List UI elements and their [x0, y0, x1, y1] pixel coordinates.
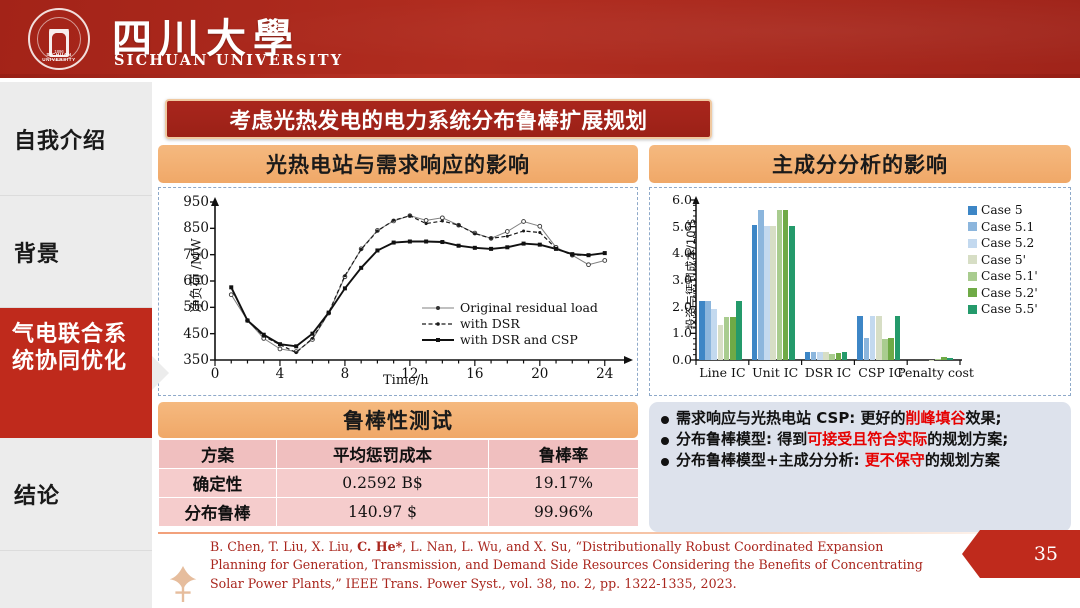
- pca-cost-legend-swatch: [968, 239, 977, 248]
- seal-text: SICHUAN UNIVERSITY: [30, 52, 88, 62]
- net-load-chart-svg: [159, 188, 635, 393]
- pca-cost-legend-swatch: [968, 206, 977, 215]
- slide-title: 考虑光热发电的电力系统分布鲁棒扩展规划: [165, 99, 712, 139]
- pca-cost-legend-swatch: [968, 255, 977, 264]
- table-header-cell: 鲁棒率: [489, 440, 639, 469]
- net-load-y-tick: 650: [163, 273, 209, 289]
- net-load-legend-label: Original residual load: [460, 300, 598, 315]
- pca-cost-bar: [817, 352, 823, 360]
- sidebar-item-self-intro[interactable]: 自我介绍: [0, 82, 152, 196]
- pca-cost-legend-swatch: [968, 272, 977, 281]
- table-cell: 19.17%: [489, 469, 639, 498]
- pca-cost-bar: [699, 301, 705, 360]
- net-load-x-tick: 20: [524, 366, 556, 382]
- net-load-legend-item: with DSR: [421, 316, 598, 331]
- net-load-legend-label: with DSR: [460, 316, 520, 331]
- bullet-text: 需求响应与光热电站 CSP: 更好的削峰填谷效果;: [676, 409, 1002, 429]
- net-load-legend-label: with DSR and CSP: [460, 332, 578, 347]
- sidebar-item-label: 背景: [14, 236, 60, 268]
- pca-cost-bar: [941, 357, 947, 360]
- citation-divider: [158, 532, 1071, 534]
- pca-cost-bar: [718, 325, 724, 360]
- pca-cost-legend-label: Case 5.2: [981, 236, 1034, 250]
- pca-cost-bar: [836, 353, 842, 360]
- sidebar-item-label-line1: 气电联合系: [12, 322, 152, 349]
- net-load-x-tick: 4: [264, 366, 296, 382]
- citation-line-1: B. Chen, T. Liu, X. Liu, C. He*, L. Nan,…: [210, 538, 1020, 556]
- pca-cost-bar: [805, 352, 811, 360]
- pca-cost-legend-label: Case 5.5': [981, 302, 1038, 316]
- bullet-text: 分布鲁棒模型: 得到可接受且符合实际的规划方案;: [676, 430, 1008, 450]
- table-row: 确定性 0.2592 B$ 19.17%: [159, 469, 639, 498]
- pca-cost-bar: [882, 339, 888, 360]
- pca-cost-bar: [777, 210, 783, 360]
- pca-cost-bar: [758, 210, 764, 360]
- net-load-x-tick: 16: [459, 366, 491, 382]
- table-header-cell: 平均惩罚成本: [277, 440, 489, 469]
- pca-cost-bar: [724, 317, 730, 360]
- net-load-chart: 净负荷 /MW Time/h 350450550650750850950 048…: [158, 187, 638, 396]
- table-header-row: 方案 平均惩罚成本 鲁棒率: [159, 440, 639, 469]
- table-cell: 0.2592 B$: [277, 469, 489, 498]
- slide-content: 考虑光热发电的电力系统分布鲁棒扩展规划 光热电站与需求响应的影响 净负荷 /MW…: [152, 82, 1080, 608]
- net-load-y-tick: 950: [163, 194, 209, 210]
- citation-line-2: Planning for Generation, Transmission, a…: [210, 556, 1020, 574]
- pca-cost-legend-item: Case 5: [968, 203, 1038, 217]
- net-load-legend-item: Original residual load: [421, 300, 598, 315]
- pca-cost-legend-label: Case 5.1': [981, 269, 1038, 283]
- pca-cost-legend-item: Case 5.2: [968, 236, 1038, 250]
- pca-cost-bar: [876, 316, 882, 360]
- table-cell: 分布鲁棒: [159, 498, 277, 527]
- sidebar-item-label-line2: 统协同优化: [12, 349, 152, 376]
- pca-cost-legend-item: Case 5': [968, 253, 1038, 267]
- table-cell: 确定性: [159, 469, 277, 498]
- pca-cost-bar: [842, 352, 848, 360]
- pca-cost-legend-swatch: [968, 288, 977, 297]
- bullet-segment: 效果;: [966, 409, 1002, 427]
- citation: B. Chen, T. Liu, X. Liu, C. He*, L. Nan,…: [210, 538, 1020, 593]
- pca-cost-bar: [783, 210, 789, 360]
- pca-cost-bar: [752, 225, 758, 360]
- legend-marker-solid-thick: [421, 334, 455, 346]
- table-cell: 140.97 $: [277, 498, 489, 527]
- pca-cost-legend-item: Case 5.2': [968, 286, 1038, 300]
- bullet-segment: 分布鲁棒模型: 得到: [676, 430, 807, 448]
- net-load-x-tick: 8: [329, 366, 361, 382]
- bullet-highlight: 更不保守: [865, 451, 925, 469]
- pca-cost-legend-item: Case 5.1': [968, 269, 1038, 283]
- net-load-x-tick: 0: [199, 366, 231, 382]
- net-load-y-tick: 550: [163, 299, 209, 315]
- net-load-x-tick: 12: [394, 366, 426, 382]
- university-seal-icon: 1896 SICHUAN UNIVERSITY: [28, 8, 90, 70]
- table-title: 鲁棒性测试: [158, 402, 638, 438]
- citation-author-highlight: C. He*: [357, 539, 402, 554]
- pca-cost-legend: Case 5Case 5.1Case 5.2Case 5'Case 5.1'Ca…: [968, 203, 1038, 319]
- pca-cost-legend-label: Case 5.1: [981, 220, 1034, 234]
- bullet-segment: 的规划方案: [925, 451, 1000, 469]
- bullet-highlight: 可接受且符合实际: [807, 430, 927, 448]
- legend-marker-solid-thin: [421, 302, 455, 314]
- active-arrow-notch: [152, 356, 169, 390]
- pca-cost-legend-label: Case 5': [981, 253, 1026, 267]
- pca-cost-bar: [823, 352, 829, 360]
- bullet-dot-icon: [661, 458, 669, 466]
- citation-line-3: Solar Power Plants,” IEEE Trans. Power S…: [210, 575, 1020, 593]
- pca-cost-bar: [829, 354, 835, 360]
- university-name-en: SICHUAN UNIVERSITY: [114, 52, 343, 69]
- bullet-dot-icon: [661, 437, 669, 445]
- sidebar-item-conclusion[interactable]: 结论: [0, 438, 152, 551]
- bullet-item: 需求响应与光热电站 CSP: 更好的削峰填谷效果;: [657, 409, 1061, 429]
- left-panel-title: 光热电站与需求响应的影响: [158, 145, 638, 183]
- net-load-legend-item: with DSR and CSP: [421, 332, 598, 347]
- pca-cost-bar: [870, 316, 876, 360]
- pca-cost-bar: [864, 338, 870, 360]
- pca-cost-legend-item: Case 5.5': [968, 302, 1038, 316]
- net-load-y-tick: 850: [163, 220, 209, 236]
- pca-cost-bar: [711, 309, 717, 360]
- pca-cost-bar: [789, 226, 795, 360]
- sidebar-item-label: 结论: [14, 478, 60, 510]
- pca-cost-bar: [736, 301, 742, 360]
- pca-cost-bar: [764, 226, 770, 360]
- table-row: 分布鲁棒 140.97 $ 99.96%: [159, 498, 639, 527]
- pca-cost-bar: [935, 359, 941, 360]
- bullet-highlight: 削峰填谷: [906, 409, 966, 427]
- net-load-y-tick: 750: [163, 247, 209, 263]
- sidebar-nav: 自我介绍 背景 气电联合系 统协同优化 结论: [0, 82, 152, 608]
- bullet-dot-icon: [661, 416, 669, 424]
- pca-cost-bar: [947, 358, 953, 360]
- bullet-segment: 的规划方案;: [927, 430, 1008, 448]
- pca-cost-bar: [730, 317, 736, 360]
- pca-cost-bar: [888, 338, 894, 360]
- pca-cost-legend-item: Case 5.1: [968, 220, 1038, 234]
- pca-cost-legend-label: Case 5.2': [981, 286, 1038, 300]
- pca-cost-bar: [705, 301, 711, 360]
- bullet-text: 分布鲁棒模型+主成分分析: 更不保守的规划方案: [676, 451, 1000, 471]
- page-number-badge: 35: [962, 530, 1080, 578]
- conclusion-bullets: 需求响应与光热电站 CSP: 更好的削峰填谷效果;分布鲁棒模型: 得到可接受且符…: [649, 402, 1071, 532]
- sidebar-item-gas-power-optimization[interactable]: 气电联合系 统协同优化: [0, 308, 152, 438]
- sidebar-item-background[interactable]: 背景: [0, 196, 152, 308]
- sidebar-item-label: 自我介绍: [14, 123, 106, 155]
- legend-marker-dashed: [421, 318, 455, 330]
- bullet-item: 分布鲁棒模型+主成分分析: 更不保守的规划方案: [657, 451, 1061, 471]
- citation-authors-a: B. Chen, T. Liu, X. Liu,: [210, 539, 357, 554]
- pca-cost-legend-label: Case 5: [981, 203, 1023, 217]
- table-header-cell: 方案: [159, 440, 277, 469]
- net-load-legend: Original residual loadwith DSRwith DSR a…: [421, 300, 598, 348]
- right-panel-title: 主成分分析的影响: [649, 145, 1071, 183]
- bullet-segment: 分布鲁棒模型+主成分分析:: [676, 451, 865, 469]
- robustness-table: 方案 平均惩罚成本 鲁棒率 确定性 0.2592 B$ 19.17% 分布鲁棒 …: [158, 439, 639, 527]
- bullet-segment: 需求响应与光热电站 CSP: 更好的: [676, 409, 906, 427]
- net-load-y-tick: 450: [163, 326, 209, 342]
- page-header: 1896 SICHUAN UNIVERSITY 四川大學 SICHUAN UNI…: [0, 0, 1080, 78]
- pca-cost-bar: [895, 316, 901, 360]
- pca-cost-bar: [811, 352, 817, 360]
- bullet-item: 分布鲁棒模型: 得到可接受且符合实际的规划方案;: [657, 430, 1061, 450]
- table-cell: 99.96%: [489, 498, 639, 527]
- pca-cost-bar: [770, 226, 776, 360]
- pca-cost-legend-swatch: [968, 222, 977, 231]
- net-load-x-tick: 24: [589, 366, 621, 382]
- citation-authors-b: , L. Nan, L. Wu, and X. Su, “Distributio…: [402, 539, 883, 554]
- pca-cost-bar: [857, 316, 863, 360]
- pca-cost-legend-swatch: [968, 305, 977, 314]
- lotus-watermark-icon: [164, 564, 202, 604]
- pca-cost-chart: 投资与惩罚成本/10⁸$ 0.01.02.03.04.05.06.0 Line …: [649, 187, 1071, 396]
